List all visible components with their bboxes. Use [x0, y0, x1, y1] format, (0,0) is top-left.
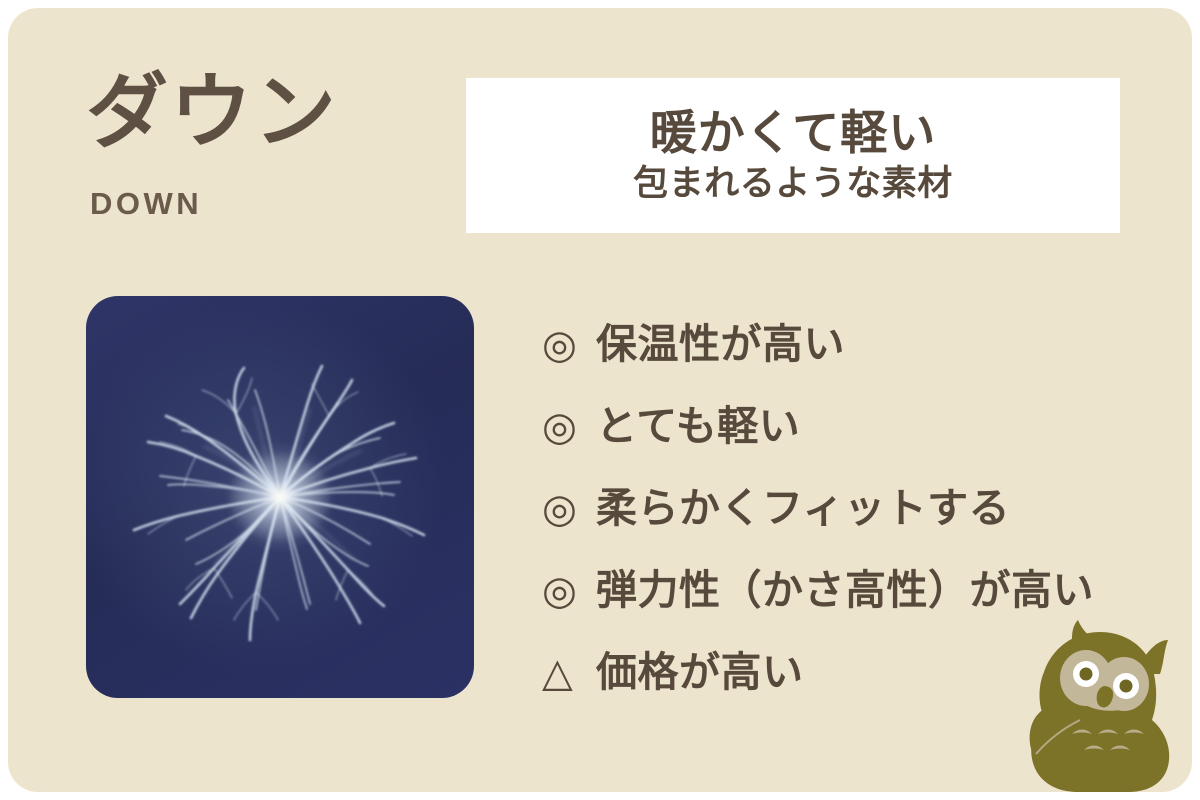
page-title: ダウン — [86, 72, 456, 154]
info-card: ダウン DOWN — [8, 8, 1192, 792]
material-photo — [86, 296, 474, 698]
list-item: ◎ 柔らかくフィットする — [542, 468, 1162, 550]
list-item-label: 保温性が高い — [596, 322, 845, 367]
list-item-label: 価格が高い — [596, 650, 804, 695]
list-item-label: とても軽い — [596, 404, 800, 449]
headline-banner: 暖かくて軽い 包まれるような素材 — [466, 78, 1120, 233]
double-circle-icon: ◎ — [542, 325, 596, 365]
double-circle-icon: ◎ — [542, 489, 596, 529]
list-item-label: 柔らかくフィットする — [596, 486, 1010, 531]
list-item-label: 弾力性（かさ高性）が高い — [596, 568, 1094, 613]
list-item: ◎ とても軽い — [542, 386, 1162, 468]
owl-mascot-icon — [1016, 616, 1184, 792]
title-block: ダウン DOWN — [86, 72, 456, 219]
double-circle-icon: ◎ — [542, 571, 596, 611]
list-item: ◎ 保温性が高い — [542, 304, 1162, 386]
page-subtitle: DOWN — [90, 188, 456, 219]
headline-secondary: 包まれるような素材 — [633, 165, 953, 204]
headline-primary: 暖かくて軽い — [650, 108, 937, 159]
double-circle-icon: ◎ — [542, 407, 596, 447]
triangle-icon: △ — [542, 653, 596, 693]
